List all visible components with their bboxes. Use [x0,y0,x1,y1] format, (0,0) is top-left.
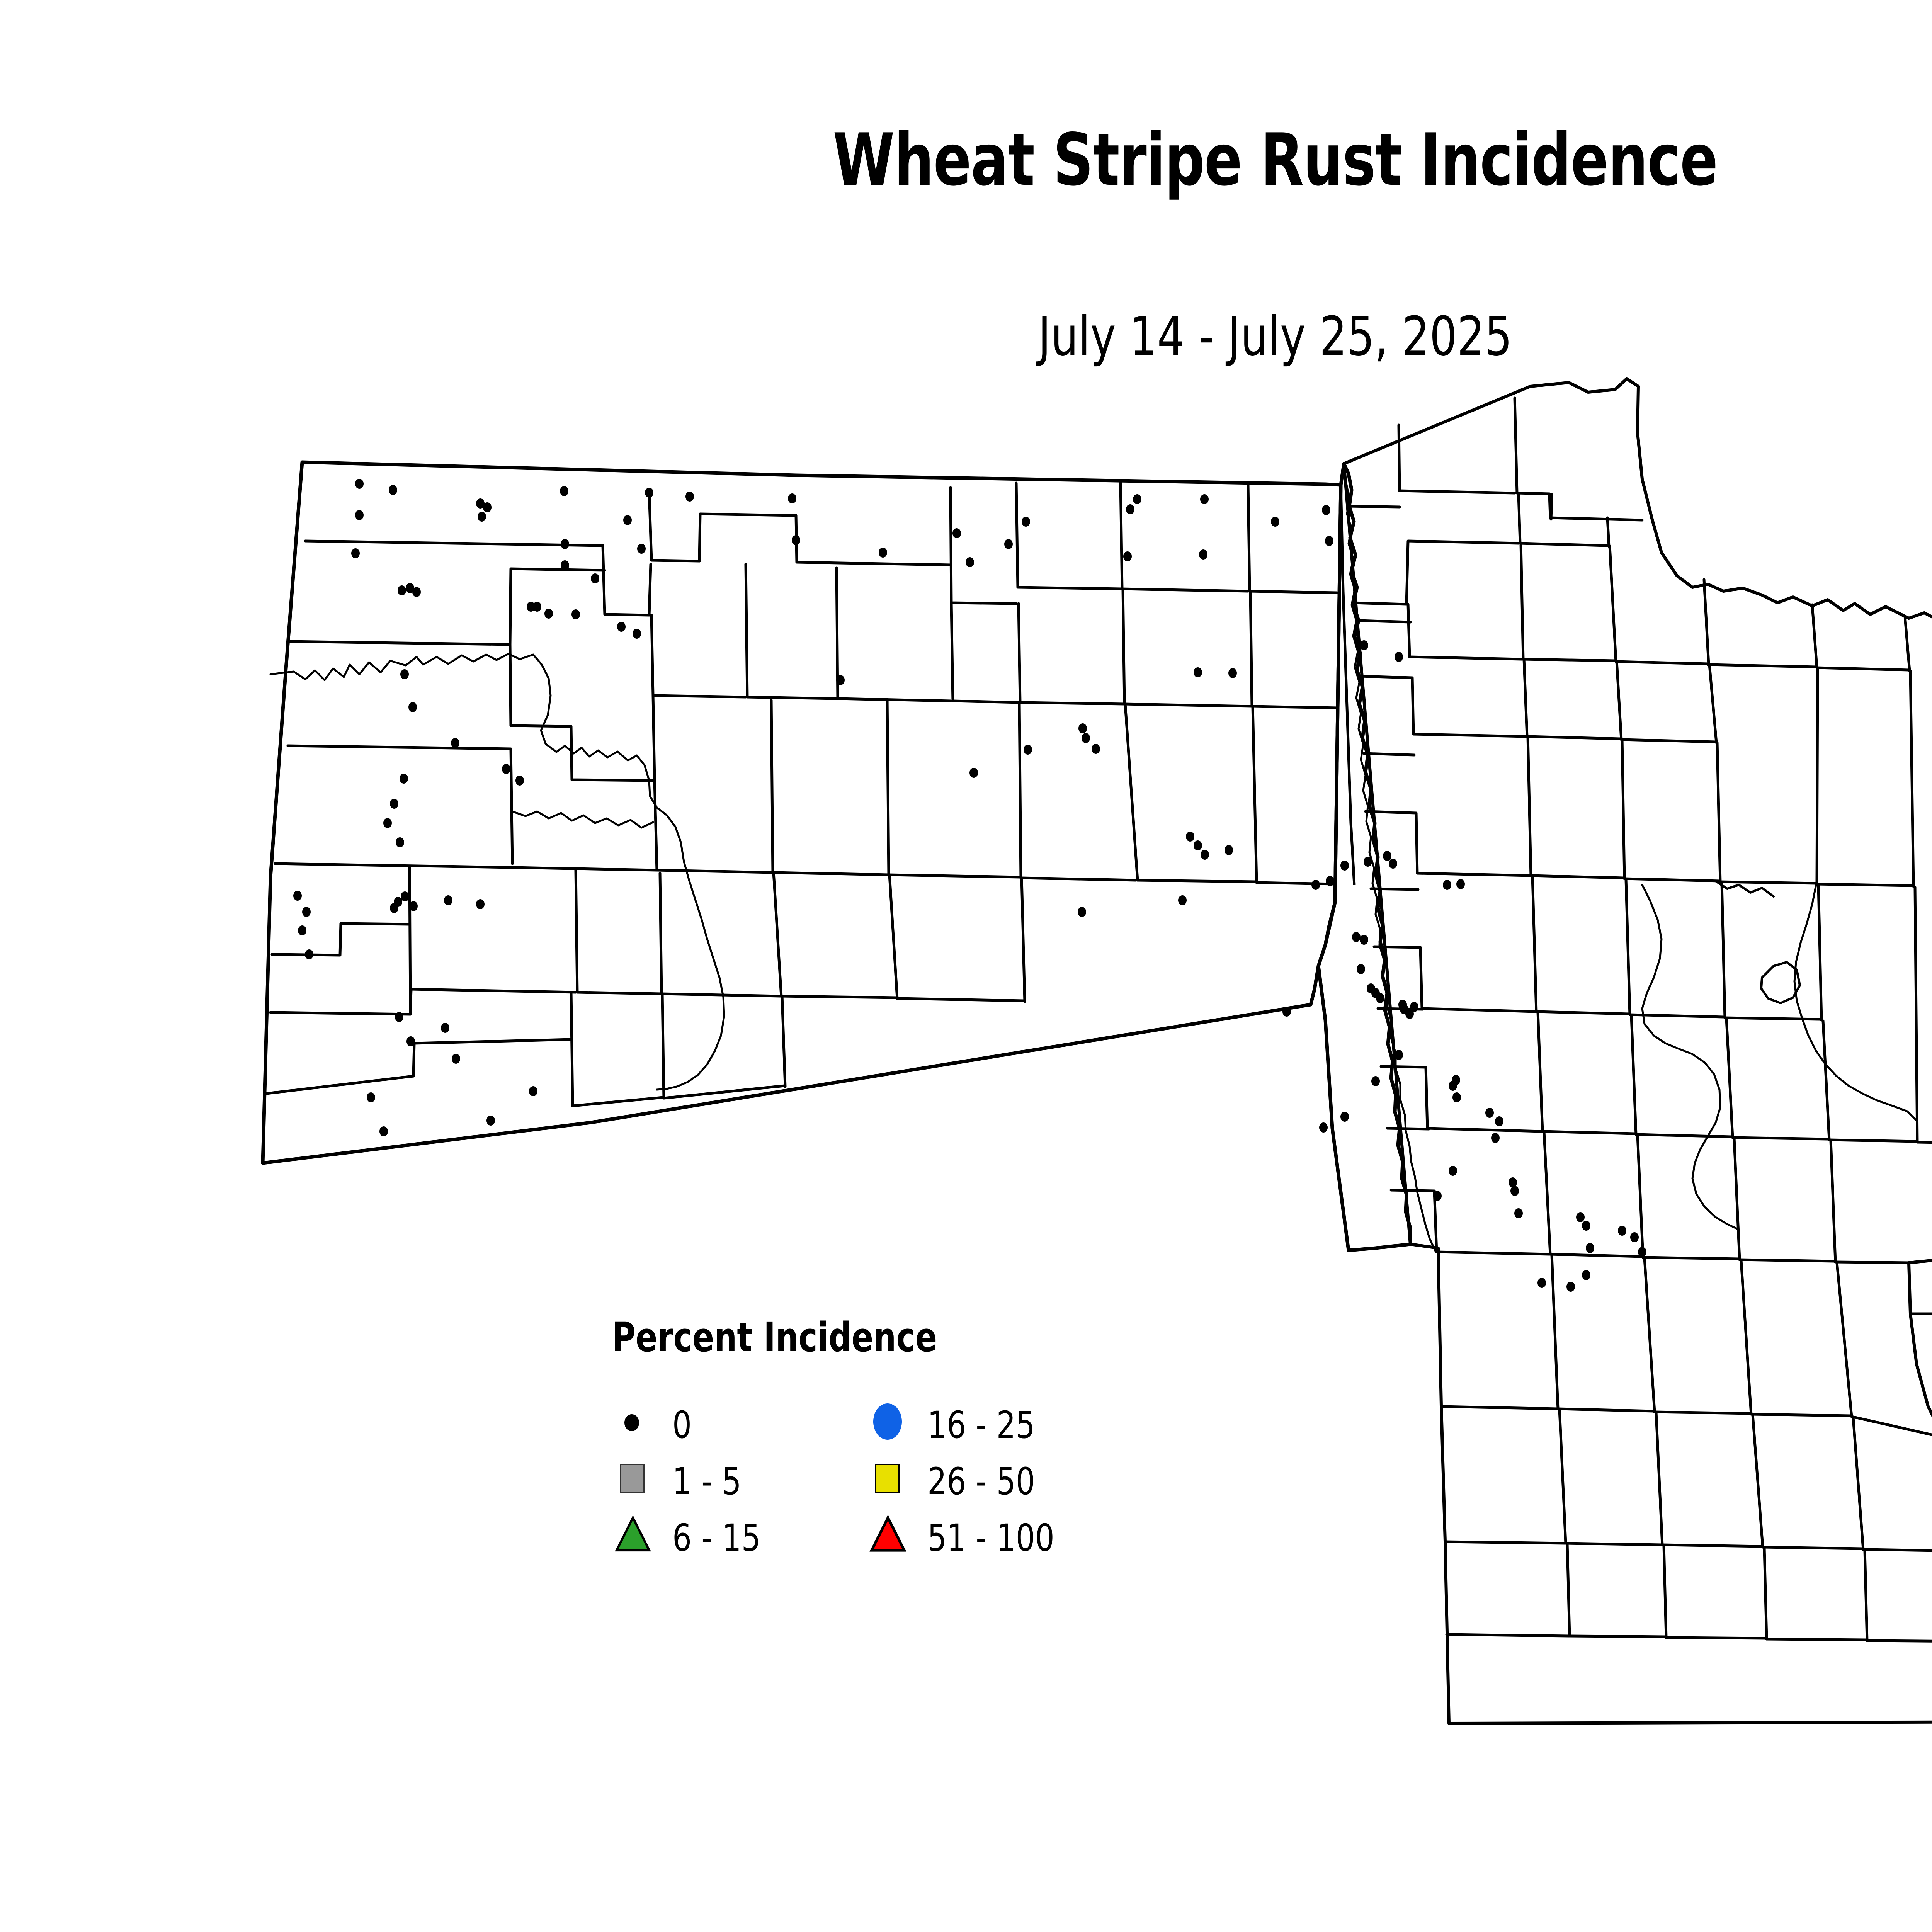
legend-symbol-green-triangle-icon [611,1511,657,1557]
legend-symbol-gray-square-icon [611,1454,657,1501]
observation-point[interactable] [1078,723,1087,733]
observation-point[interactable] [1282,1007,1291,1017]
legend-symbol-yellow-square-icon [866,1454,912,1501]
observation-point[interactable] [788,493,796,503]
observation-point[interactable] [351,548,360,558]
observation-point[interactable] [483,502,492,512]
observation-point[interactable] [1452,1092,1461,1102]
observation-point[interactable] [1449,1166,1457,1176]
observation-point[interactable] [1638,1247,1646,1257]
observation-point[interactable] [1352,932,1361,942]
observation-point[interactable] [685,492,694,502]
observation-point[interactable] [1200,494,1209,504]
observation-point[interactable] [1495,1116,1503,1126]
observation-point[interactable] [544,609,553,619]
observation-point[interactable] [529,1086,537,1096]
observation-point[interactable] [792,535,800,545]
observation-point[interactable] [1485,1108,1494,1118]
observation-point[interactable] [408,702,417,712]
observation-point[interactable] [1509,1177,1517,1187]
observation-point[interactable] [1194,840,1202,850]
observation-point[interactable] [1325,536,1333,546]
map-page: Wheat Stripe Rust Incidence July 14 - Ju… [0,0,1932,1932]
county-map-svg[interactable] [0,0,1932,1932]
observation-point[interactable] [1582,1270,1590,1280]
observation-point[interactable] [1123,551,1132,561]
observation-point[interactable] [969,768,978,778]
observation-point[interactable] [1225,845,1233,855]
observation-point[interactable] [1228,668,1237,678]
observation-point[interactable] [412,587,421,597]
observation-point[interactable] [486,1116,495,1126]
observation-point[interactable] [617,622,626,632]
observation-point[interactable] [390,799,398,809]
montana-outline [263,462,1341,1163]
observation-point[interactable] [1024,745,1032,755]
observation-point[interactable] [389,485,397,495]
observation-point[interactable] [390,903,398,913]
legend-symbol-red-triangle-icon [866,1511,912,1557]
observation-points[interactable] [293,479,1646,1292]
observation-point[interactable] [561,539,569,549]
observation-point[interactable] [836,675,845,685]
legend: Percent Incidence 0 1 - 5 [611,1314,1151,1584]
observation-point[interactable] [1078,907,1086,917]
observation-point[interactable] [1126,504,1134,514]
observation-point[interactable] [451,738,459,748]
observation-point[interactable] [1510,1186,1519,1196]
legend-label-16-25: 16 - 25 [927,1403,1035,1447]
observation-point[interactable] [293,891,302,901]
observation-point[interactable] [1319,1122,1328,1133]
observation-point[interactable] [1395,1050,1403,1060]
observation-point[interactable] [444,895,452,905]
observation-point[interactable] [952,528,961,538]
observation-point[interactable] [476,899,485,909]
observation-point[interactable] [1340,1112,1349,1122]
observation-point[interactable] [502,764,510,774]
observation-point[interactable] [1630,1232,1639,1242]
observation-point[interactable] [1566,1282,1575,1292]
minnesota-boundaries [1344,379,1932,1723]
observation-point[interactable] [1082,733,1090,743]
observation-point[interactable] [1491,1133,1500,1143]
missouri-river-mt [270,654,724,1090]
observation-point[interactable] [966,557,974,567]
minnesota-county-lines [1349,398,1932,1645]
observation-point[interactable] [1410,1002,1418,1012]
yellowstone-river [512,811,653,828]
legend-label-51-100: 51 - 100 [927,1516,1054,1560]
legend-symbol-blue-circle-icon [866,1398,912,1444]
north-dakota-boundaries [1318,464,1410,1250]
observation-point[interactable] [1371,1076,1380,1086]
observation-point[interactable] [1433,1191,1442,1201]
observation-point[interactable] [395,1012,403,1022]
observation-point[interactable] [452,1054,460,1064]
observation-point[interactable] [1199,549,1207,560]
observation-point[interactable] [1357,964,1365,974]
observation-point[interactable] [560,486,568,496]
observation-point[interactable] [1092,744,1100,754]
observation-point[interactable] [1194,667,1202,677]
observation-point[interactable] [1514,1208,1523,1218]
observation-point[interactable] [1311,880,1320,890]
observation-point[interactable] [1364,857,1372,867]
observation-point[interactable] [478,512,486,522]
observation-point[interactable] [533,602,541,612]
county-boundaries [263,462,1341,1163]
observation-point[interactable] [379,1126,388,1136]
observation-point[interactable] [571,609,580,619]
observation-point[interactable] [441,1023,449,1033]
observation-point[interactable] [637,544,646,554]
observation-point[interactable] [645,488,653,498]
observation-point[interactable] [355,510,364,520]
observation-point[interactable] [400,669,409,679]
observation-point[interactable] [1178,895,1187,905]
legend-label-6-15: 6 - 15 [672,1516,761,1560]
observation-point[interactable] [1456,879,1465,889]
observation-point[interactable] [623,515,632,525]
legend-title: Percent Incidence [612,1314,937,1361]
observation-point[interactable] [1586,1243,1594,1253]
observation-point[interactable] [1360,640,1368,650]
observation-point[interactable] [302,907,311,917]
observation-point[interactable] [1340,861,1349,871]
observation-point[interactable] [633,629,641,639]
map-canvas[interactable] [0,0,1932,1932]
observation-point[interactable] [1576,1212,1585,1222]
observation-point[interactable] [1326,876,1334,886]
observation-point[interactable] [355,479,364,489]
legend-label-0: 0 [672,1403,692,1447]
observation-point[interactable] [396,837,404,847]
observation-point[interactable] [1389,859,1397,869]
observation-point[interactable] [1133,494,1141,504]
observation-point[interactable] [515,776,524,786]
observation-point[interactable] [1443,880,1451,890]
observation-point[interactable] [1201,850,1209,860]
observation-point[interactable] [383,818,392,828]
observation-point[interactable] [1395,652,1403,662]
observation-point[interactable] [561,560,569,570]
observation-point[interactable] [591,573,599,583]
observation-point[interactable] [409,901,418,911]
observation-point[interactable] [879,548,887,558]
observation-point[interactable] [1271,517,1279,527]
observation-point[interactable] [1452,1075,1460,1085]
observation-point[interactable] [1004,539,1013,549]
observation-point[interactable] [298,925,306,935]
observation-point[interactable] [1383,851,1391,861]
north-dakota-outline [1318,464,1410,1250]
minnesota-outline [1344,379,1932,1723]
observation-point[interactable] [401,891,409,901]
observation-point[interactable] [1022,517,1030,527]
legend-label-1-5: 1 - 5 [672,1460,742,1503]
observation-point[interactable] [1186,832,1194,842]
observation-point[interactable] [1582,1221,1590,1231]
observation-point[interactable] [398,585,406,595]
legend-label-26-50: 26 - 50 [927,1460,1035,1503]
observation-point[interactable] [367,1092,375,1102]
observation-point[interactable] [400,774,408,784]
observation-point[interactable] [1322,505,1330,515]
observation-point[interactable] [1618,1226,1626,1236]
observation-point[interactable] [1360,935,1368,945]
observation-point[interactable] [1376,993,1384,1003]
observation-point[interactable] [305,949,313,959]
observation-point[interactable] [406,1036,415,1046]
legend-symbol-circle-small-icon [611,1398,657,1444]
observation-point[interactable] [1537,1278,1546,1288]
